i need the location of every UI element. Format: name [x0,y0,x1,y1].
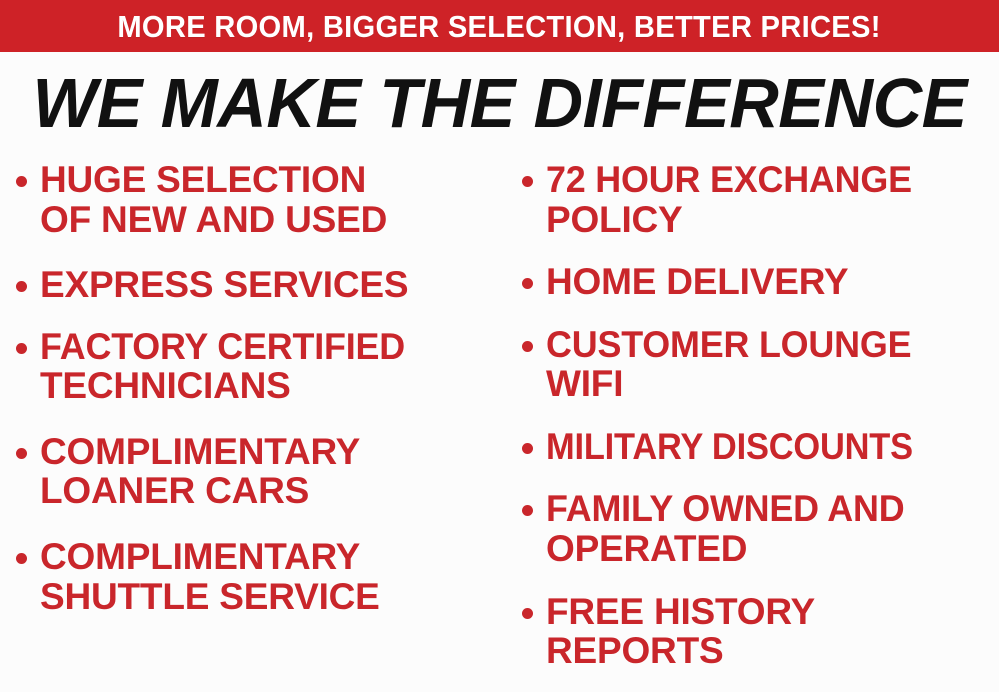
list-item-text: HUGE SELECTION OF NEW AND USED [40,160,501,239]
bullet-dot-icon [522,443,533,454]
bullet-dot-icon [16,281,27,292]
list-item: HUGE SELECTION OF NEW AND USED [16,160,501,239]
features-column-left: HUGE SELECTION OF NEW AND USED EXPRESS S… [0,160,505,642]
list-item-text: HOME DELIVERY [546,262,997,302]
list-item-line: COMPLIMENTARY [40,537,501,577]
page-title: WE MAKE THE DIFFERENCE [32,68,966,138]
list-item-line: CUSTOMER LOUNGE [546,325,983,365]
list-item-line: EXPRESS SERVICES [40,265,501,305]
list-item-line: LOANER CARS [40,471,501,511]
list-item-text: FAMILY OWNED AND OPERATED [546,489,997,568]
headline-container: WE MAKE THE DIFFERENCE [0,62,999,144]
bullet-dot-icon [16,448,27,459]
list-item-line: POLICY [546,200,997,240]
bullet-dot-icon [522,176,533,187]
list-item-line: FREE HISTORY [546,592,997,632]
list-item: COMPLIMENTARY SHUTTLE SERVICE [16,537,501,616]
list-item-text: COMPLIMENTARY LOANER CARS [40,432,501,511]
tagline-text: MORE ROOM, BIGGER SELECTION, BETTER PRIC… [118,11,881,42]
list-item-line: HUGE SELECTION [40,160,501,200]
bullet-dot-icon [522,278,533,289]
list-item-text: FACTORY CERTIFIED TECHNICIANS [40,327,501,406]
features-columns: HUGE SELECTION OF NEW AND USED EXPRESS S… [0,160,999,692]
bullet-dot-icon [16,176,27,187]
list-item: 72 HOUR EXCHANGE POLICY [522,160,997,239]
list-item-line: FACTORY CERTIFIED [40,327,487,367]
list-item-line: REPORTS [546,631,997,671]
bullet-dot-icon [16,343,27,354]
list-item-line: OF NEW AND USED [40,200,501,240]
list-item-line: FAMILY OWNED AND [546,489,983,529]
promo-banner: MORE ROOM, BIGGER SELECTION, BETTER PRIC… [0,0,999,692]
list-item-text: COMPLIMENTARY SHUTTLE SERVICE [40,537,501,616]
list-item-text: EXPRESS SERVICES [40,265,501,305]
list-item: FREE HISTORY REPORTS [522,592,997,671]
list-item: COMPLIMENTARY LOANER CARS [16,432,501,511]
list-item-line: 72 HOUR EXCHANGE [546,160,983,200]
list-item-line: OPERATED [546,529,997,569]
bullet-dot-icon [16,553,27,564]
list-item-line: COMPLIMENTARY [40,432,501,472]
list-item: CUSTOMER LOUNGE WIFI [522,325,997,404]
bullet-dot-icon [522,341,533,352]
tagline-bar: MORE ROOM, BIGGER SELECTION, BETTER PRIC… [0,0,999,52]
list-item: EXPRESS SERVICES [16,265,501,305]
list-item-text: CUSTOMER LOUNGE WIFI [546,325,997,404]
features-column-right: 72 HOUR EXCHANGE POLICY HOME DELIVERY CU… [505,160,999,692]
list-item-text: 72 HOUR EXCHANGE POLICY [546,160,997,239]
list-item: HOME DELIVERY [522,262,997,302]
list-item-line: SHUTTLE SERVICE [40,577,501,617]
list-item-line: TECHNICIANS [40,366,501,406]
bullet-dot-icon [522,608,533,619]
list-item-text: FREE HISTORY REPORTS [546,592,997,671]
list-item: FAMILY OWNED AND OPERATED [522,489,997,568]
list-item: FACTORY CERTIFIED TECHNICIANS [16,327,501,406]
list-item-text: MILITARY DISCOUNTS [546,427,997,467]
list-item: MILITARY DISCOUNTS [522,427,997,467]
list-item-line: HOME DELIVERY [546,262,997,302]
bullet-dot-icon [522,505,533,516]
list-item-line: MILITARY DISCOUNTS [546,427,965,467]
list-item-line: WIFI [546,364,997,404]
